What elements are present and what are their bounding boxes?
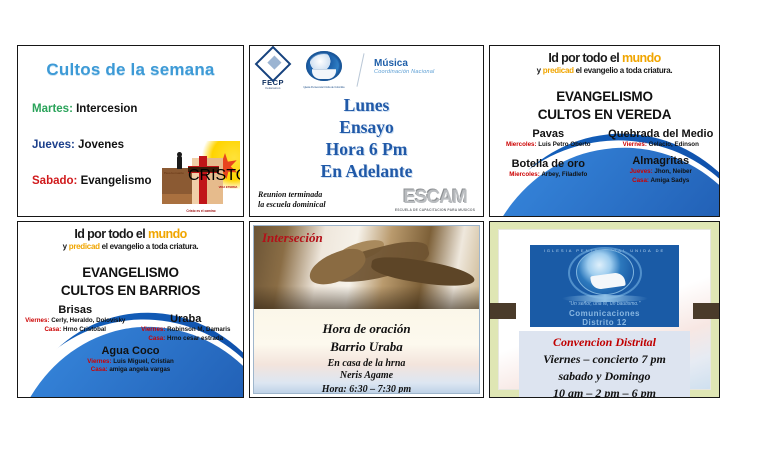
slide1-value-martes: Intercesion (76, 103, 137, 115)
slide3-verse: Id por todo el mundo y predicad el evang… (490, 51, 719, 75)
detail-value: Hrno cesar estrada (167, 335, 223, 342)
place-uraba: Uraba Viernes: Robinson M, Damaris Casa:… (133, 313, 240, 343)
slide-grid: Cultos de la semana Martes: Intercesion … (15, 43, 723, 400)
slide5-inner-frame: Interseción Hora de oración Barrio Uraba… (253, 225, 480, 394)
place-detail: Casa: Amiga Sadys (607, 177, 716, 185)
slide1-value-sabado: Evangelismo (81, 175, 152, 187)
hands-fingers (305, 243, 370, 291)
slide4-column-left: Brisas Viernes: Cerly, Heraldo, Dolovisk… (22, 304, 129, 343)
slide4-verse-2b: predicad (69, 242, 100, 251)
detail-label: Viernes: (623, 141, 647, 148)
slide4-verse-2c: el evangelio a toda criatura. (100, 242, 199, 251)
place-detail: Viernes: Robinson M, Damaris (133, 326, 240, 334)
place-name: Uraba (133, 313, 240, 325)
place-quebrada-del-medio: Quebrada del Medio Viernes: Gelacio, Edi… (607, 128, 716, 149)
slide1-row-jueves: Jueves: Jovenes (32, 139, 124, 151)
place-botella-de-oro: Botella de oro Miercoles: Arbey, Filadle… (494, 158, 603, 179)
person-body-icon (177, 156, 182, 169)
open-book-icon (312, 69, 336, 79)
slide-cell-6: IGLESIA PENTECOSTAL UNIDA DE COLOMBIA "U… (487, 219, 723, 400)
detail-label: Viernes: (141, 326, 165, 333)
slide1-day-sabado: Sabado: (32, 175, 77, 187)
musica-title: Música (374, 58, 434, 69)
place-detail: Casa: amiga angela vargas (22, 366, 239, 374)
slide3-verse-line-1: Id por todo el mundo (490, 51, 719, 65)
photo-shadow (254, 286, 479, 309)
slide3-verse-line-2: y predicad el evangelio a toda criatura. (490, 66, 719, 75)
slide5-line-2: Barrio Uraba (254, 339, 479, 355)
detail-value: amiga angela vargas (109, 366, 170, 373)
place-almagritas: Almagritas Jueves: Jhon, Neiber Casa: Am… (607, 155, 716, 185)
church-globe-logo: Iglesia Pentecostal Unida de Colombia (302, 51, 346, 89)
place-detail: Casa: Hrno cesar estrada (133, 335, 240, 343)
slide2-line-2: Ensayo (250, 117, 483, 139)
place-brisas: Brisas Viernes: Cerly, Heraldo, Dolovisk… (22, 304, 129, 334)
fecp-logo-sub: Federacion (256, 87, 290, 90)
place-detail: Jueves: Jhon, Neiber (607, 168, 716, 176)
globe-logo-caption: Iglesia Pentecostal Unida de Colombia (302, 86, 346, 89)
slide-evangelismo-vereda[interactable]: Id por todo el mundo y predicad el evang… (489, 45, 720, 217)
globe-icon (576, 249, 634, 295)
slide4-title-line-2: CULTOS EN BARRIOS (18, 282, 243, 300)
slide2-main-text: Lunes Ensayo Hora 6 Pm En Adelante (250, 95, 483, 183)
slide1-row-martes: Martes: Intercesion (32, 103, 137, 115)
slide-cell-4: Id por todo el mundo y predicad el evang… (15, 219, 247, 400)
divider (356, 53, 364, 86)
slide1-value-jueves: Jovenes (78, 139, 124, 151)
slide2-line-1: Lunes (250, 95, 483, 117)
slide4-verse-line-2: y predicad el evangelio a toda criatura. (18, 242, 243, 251)
place-name: Agua Coco (22, 345, 239, 357)
slide3-column-left: Pavas Miercoles: Luis Petro Oberto Botel… (494, 128, 603, 184)
detail-label: Miercoles: (509, 171, 540, 178)
cross-band: CRISTO (188, 167, 219, 172)
slide4-verse-line-1: Id por todo el mundo (18, 227, 243, 241)
fecp-logo: FECP Federacion (256, 51, 290, 90)
slide-interseccion[interactable]: Interseción Hora de oración Barrio Uraba… (249, 221, 484, 398)
detail-label: Miercoles: (506, 141, 537, 148)
place-detail: Miercoles: Luis Petro Oberto (494, 141, 603, 149)
slide-cell-1: Cultos de la semana Martes: Intercesion … (15, 43, 247, 219)
slide5-line-4: Neris Agame (254, 370, 479, 381)
detail-label: Jueves: (630, 168, 653, 175)
detail-label: Casa: (632, 177, 649, 184)
slide2-footer: Reunion terminada la escuela dominical (258, 190, 326, 210)
escam-subtitle: ESCUELA DE CAPACITACION PARA MUSICOS (392, 208, 478, 212)
escam-name: ESCAM (392, 187, 478, 209)
slide-cell-3: Id por todo el mundo y predicad el evang… (487, 43, 723, 219)
detail-label: Casa: (148, 335, 165, 342)
slide6-title: Convencion Distrital (521, 335, 688, 350)
slide6-line-2: sabado y Domingo (521, 369, 688, 384)
slide4-title-line-1: EVANGELISMO (18, 264, 243, 282)
slide5-line-3: En casa de la hrna (254, 358, 479, 369)
slide-cell-5: Interseción Hora de oración Barrio Uraba… (247, 219, 487, 400)
slide4-title: EVANGELISMO CULTOS EN BARRIOS (18, 264, 243, 300)
right-tab-decoration (693, 303, 719, 319)
slide2-line-4: En Adelante (250, 161, 483, 183)
slide1-day-jueves: Jueves: (32, 139, 75, 151)
place-detail: Miercoles: Arbey, Filadlefo (494, 171, 603, 179)
slide2-line-3: Hora 6 Pm (250, 139, 483, 161)
slide2-footer-line-1: Reunion terminada (258, 190, 326, 200)
slide3-places: Pavas Miercoles: Luis Petro Oberto Botel… (494, 128, 715, 184)
detail-label: Casa: (44, 326, 61, 333)
place-detail: Casa: Hrno Cristobal (22, 326, 129, 334)
musica-subtitle: Coordinación Nacional (374, 69, 434, 75)
slide5-line-5: Hora: 6:30 – 7:30 pm (254, 384, 479, 394)
slide1-day-martes: Martes: (32, 103, 73, 115)
slide5-line-1: Hora de oración (254, 321, 479, 337)
slide5-text-body: Hora de oración Barrio Uraba En casa de … (254, 309, 479, 393)
ipuc-motto: "Un señor, una fe, un bautismo." (530, 301, 679, 307)
detail-label: Viernes: (87, 358, 111, 365)
place-name: Almagritas (607, 155, 716, 167)
detail-value: Robinson M, Damaris (167, 326, 230, 333)
detail-value: Amiga Sadys (651, 177, 690, 184)
slide3-verse-1a: Id por todo el (548, 51, 622, 65)
ipuc-line-1: Comunicaciones (530, 309, 679, 318)
slide2-footer-line-2: la escuela dominical (258, 200, 326, 210)
place-name: Brisas (22, 304, 129, 316)
ipuc-line-2: Distrito 12 (530, 318, 679, 327)
detail-value: Gelacio, Edinson (649, 141, 699, 148)
slide6-text-block: Convencion Distrital Viernes – concierto… (519, 331, 690, 398)
slide3-verse-2b: predicad (543, 66, 574, 75)
place-name: Botella de oro (494, 158, 603, 170)
slide-convencion-distrital[interactable]: IGLESIA PENTECOSTAL UNIDA DE COLOMBIA "U… (489, 221, 720, 398)
place-detail: Viernes: Gelacio, Edinson (607, 141, 716, 149)
slide6-line-3: 10 am – 2 pm – 6 pm (521, 386, 688, 398)
slide6-frame: IGLESIA PENTECOSTAL UNIDA DE COLOMBIA "U… (499, 230, 710, 389)
slide4-column-right: Uraba Viernes: Robinson M, Damaris Casa:… (133, 304, 240, 343)
slide1-row-sabado: Sabado: Evangelismo (32, 175, 152, 187)
slide3-verse-2c: el evangelio a toda criatura. (574, 66, 673, 75)
slide4-verse-1b: mundo (148, 227, 187, 241)
slide5-overlay-title: Interseción (262, 230, 323, 246)
place-detail: Viernes: Cerly, Heraldo, Dolovisky (22, 317, 129, 325)
cross-illustration: CRISTO Pasa la muerte VIDA ETERNA Cristo… (162, 141, 240, 213)
musica-logo: Música Coordinación Nacional (374, 58, 434, 75)
detail-value: Arbey, Filadlefo (541, 171, 587, 178)
diamond-icon (255, 46, 292, 83)
art-label-right: VIDA ETERNA (218, 186, 238, 189)
slide3-title-line-2: CULTOS EN VEREDA (490, 106, 719, 124)
slide3-title: EVANGELISMO CULTOS EN VEREDA (490, 88, 719, 124)
detail-value: Luis Petro Oberto (538, 141, 590, 148)
detail-value: Jhon, Neiber (654, 168, 691, 175)
slide-lunes-ensayo[interactable]: FECP Federacion Iglesia Pentecostal Unid… (249, 45, 484, 217)
slide-evangelismo-barrios[interactable]: Id por todo el mundo y predicad el evang… (17, 221, 244, 398)
escam-logo: ESCAM ESCUELA DE CAPACITACION PARA MUSIC… (392, 187, 478, 212)
slide3-title-line-1: EVANGELISMO (490, 88, 719, 106)
cliff-top-shape (162, 194, 196, 204)
slide3-column-right: Quebrada del Medio Viernes: Gelacio, Edi… (607, 128, 716, 184)
slide1-title: Cultos de la semana (18, 60, 243, 80)
slide6-line-1: Viernes – concierto 7 pm (521, 352, 688, 367)
art-label-left: Pasa la muerte (164, 172, 190, 175)
slide-cell-2: FECP Federacion Iglesia Pentecostal Unid… (247, 43, 487, 219)
detail-label: Casa: (91, 366, 108, 373)
detail-value: Luis Miguel, Cristian (113, 358, 174, 365)
detail-value: Cerly, Heraldo, Dolovisky (51, 317, 125, 324)
slide2-logo-bar: FECP Federacion Iglesia Pentecostal Unid… (256, 51, 478, 89)
detail-value: Hrno Cristobal (63, 326, 106, 333)
place-agua-coco: Agua Coco Viernes: Luis Miguel, Cristian… (22, 345, 239, 375)
slide4-verse-1a: Id por todo el (74, 227, 148, 241)
place-detail: Viernes: Luis Miguel, Cristian (22, 358, 239, 366)
left-tab-decoration (490, 303, 516, 319)
place-pavas: Pavas Miercoles: Luis Petro Oberto (494, 128, 603, 149)
slide4-places: Brisas Viernes: Cerly, Heraldo, Dolovisk… (22, 304, 239, 374)
detail-label: Viernes: (25, 317, 49, 324)
slide-cultos-semana[interactable]: Cultos de la semana Martes: Intercesion … (17, 45, 244, 217)
ipuc-logo-panel: IGLESIA PENTECOSTAL UNIDA DE COLOMBIA "U… (530, 245, 679, 327)
place-name: Quebrada del Medio (607, 128, 716, 140)
slide3-verse-1b: mundo (622, 51, 661, 65)
place-name: Pavas (494, 128, 603, 140)
art-caption: Cristo es el camino (162, 209, 240, 213)
slide4-verse: Id por todo el mundo y predicad el evang… (18, 227, 243, 251)
